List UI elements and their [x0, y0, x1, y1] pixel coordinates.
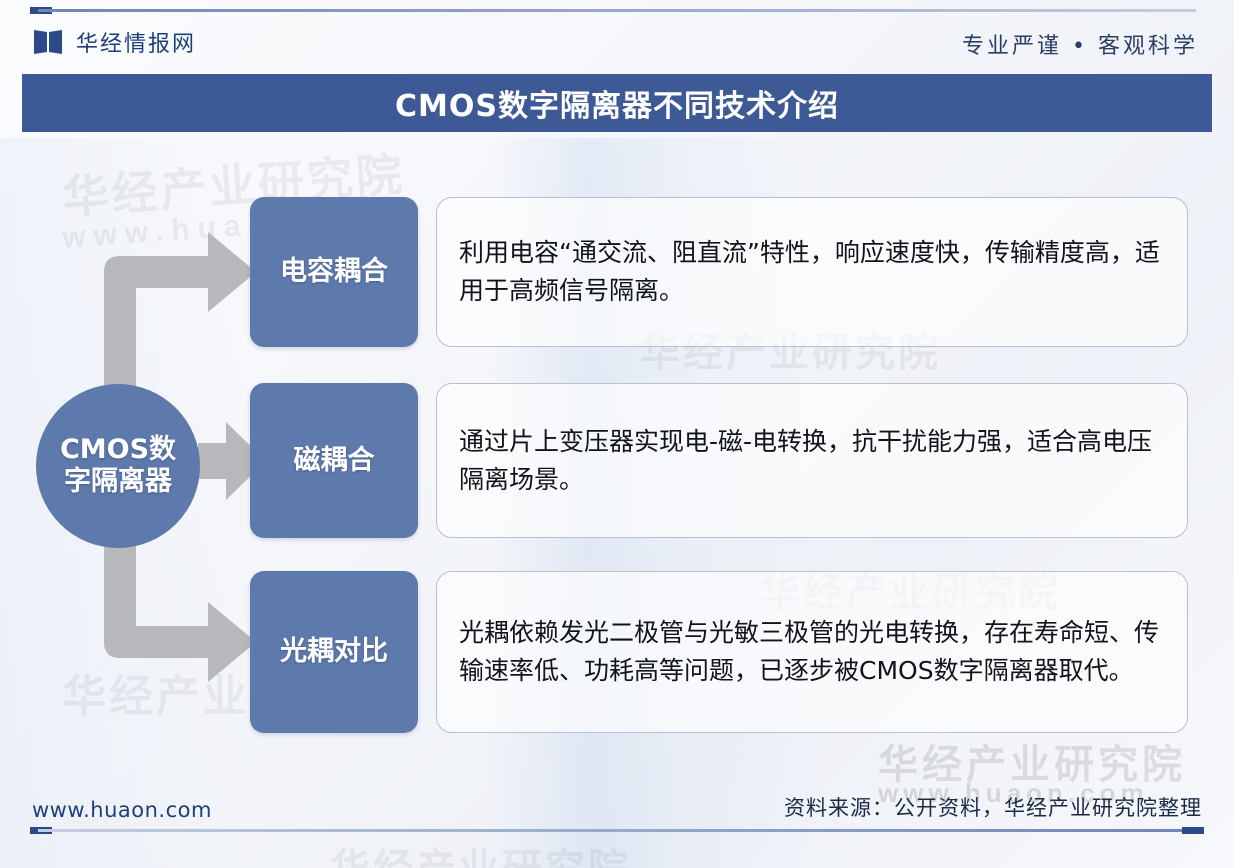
- description-box-magnetic: 通过片上变压器实现电-磁-电转换，抗干扰能力强，适合高电压隔离场景。: [436, 383, 1188, 538]
- bottom-rule-cap-right: [1182, 827, 1204, 834]
- hub-node[interactable]: CMOS数字隔离器: [36, 384, 200, 548]
- footer-site-url[interactable]: www.huaon.com: [32, 798, 212, 822]
- top-rule: [38, 9, 1196, 12]
- hub-label: CMOS数字隔离器: [58, 434, 178, 498]
- infographic-page: 华经产业研究院 www.huaon.com 华经产业研究院 华经产业研究院 华经…: [0, 0, 1234, 868]
- description-text: 利用电容“通交流、阻直流”特性，响应速度快，传输精度高，适用于高频信号隔离。: [459, 234, 1165, 310]
- watermark-institute: 华经产业研究院: [878, 732, 1186, 790]
- description-box-optocoupler: 光耦依赖发光二极管与光敏三极管的光电转换，存在寿命短、传输速率低、功耗高等问题，…: [436, 571, 1188, 733]
- description-text: 通过片上变压器实现电-磁-电转换，抗干扰能力强，适合高电压隔离场景。: [459, 423, 1165, 499]
- technology-row: 电容耦合 利用电容“通交流、阻直流”特性，响应速度快，传输精度高，适用于高频信号…: [250, 197, 1188, 347]
- open-book-icon: [32, 29, 64, 55]
- bottom-rule: [38, 829, 1196, 832]
- category-box-capacitive[interactable]: 电容耦合: [250, 197, 418, 347]
- category-box-optocoupler[interactable]: 光耦对比: [250, 571, 418, 733]
- brand-name: 华经情报网: [76, 26, 196, 58]
- category-label: 磁耦合: [276, 443, 393, 478]
- page-title: CMOS数字隔离器不同技术介绍: [395, 81, 839, 125]
- footer-source: 资料来源：公开资料，华经产业研究院整理: [784, 792, 1202, 822]
- category-label: 光耦对比: [262, 634, 406, 669]
- title-band: CMOS数字隔离器不同技术介绍: [22, 74, 1212, 132]
- description-text: 光耦依赖发光二极管与光敏三极管的光电转换，存在寿命短、传输速率低、功耗高等问题，…: [459, 614, 1165, 690]
- category-label: 电容耦合: [262, 254, 406, 289]
- brand: 华经情报网: [32, 26, 196, 58]
- slogan: 专业严谨 • 客观科学: [962, 28, 1198, 60]
- category-box-magnetic[interactable]: 磁耦合: [250, 383, 418, 538]
- description-box-capacitive: 利用电容“通交流、阻直流”特性，响应速度快，传输精度高，适用于高频信号隔离。: [436, 197, 1188, 347]
- technology-row: 磁耦合 通过片上变压器实现电-磁-电转换，抗干扰能力强，适合高电压隔离场景。: [250, 383, 1188, 538]
- watermark-institute: 华经产业研究院: [330, 836, 631, 868]
- technology-row: 光耦对比 光耦依赖发光二极管与光敏三极管的光电转换，存在寿命短、传输速率低、功耗…: [250, 571, 1188, 733]
